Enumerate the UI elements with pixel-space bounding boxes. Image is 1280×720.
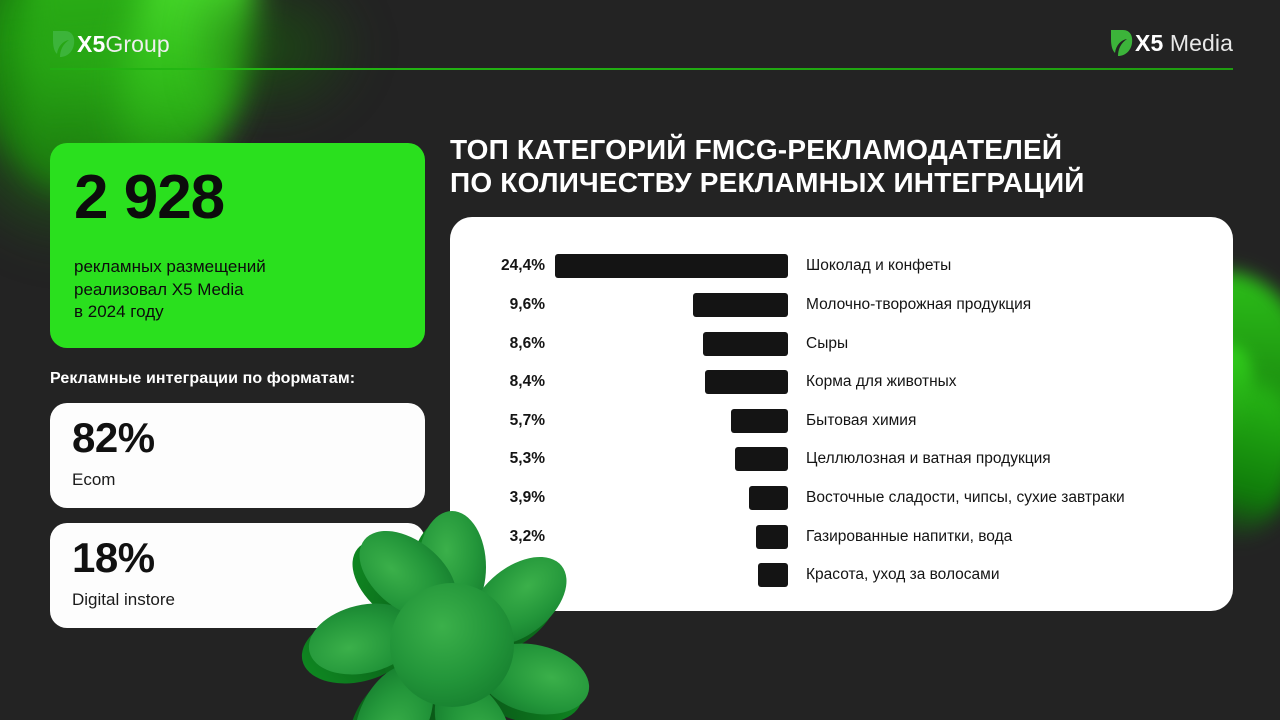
placements-description: рекламных размещений реализовал X5 Media… [74,256,401,324]
bar-track [555,409,788,433]
formats-section-label: Рекламные интеграции по форматам: [50,370,425,388]
bar-chart-row: 24,4%Шоколад и конфеты [450,247,1233,286]
format-percent: 18% [72,537,403,579]
placements-description-line2: реализовал X5 Media [74,279,401,302]
bar-category-label: Молочно-творожная продукция [788,296,1031,314]
bar-category-label: Целлюлозная и ватная продукция [788,450,1051,468]
chart-card: 24,4%Шоколад и конфеты9,6%Молочно-творож… [450,217,1233,611]
bar-chart-row: 9,6%Молочно-творожная продукция [450,286,1233,325]
bar-track [555,525,788,549]
bar-chart-row: 2,6%Красота, уход за волосами [450,556,1233,595]
leaf-icon [1108,27,1134,59]
bar-track [555,486,788,510]
bar [555,254,788,278]
bar-category-label: Восточные сладости, чипсы, сухие завтрак… [788,489,1125,507]
bar-category-label: Газированные напитки, вода [788,528,1012,546]
bar-category-label: Корма для животных [788,373,957,391]
format-percent: 82% [72,417,403,459]
bar-value-label: 8,4% [450,373,555,391]
header-divider [50,68,1233,70]
bar-chart-row: 3,2%Газированные напитки, вода [450,517,1233,556]
x5group-logo: X5Group [50,28,170,60]
format-card-ecom: 82% Ecom [50,403,425,508]
bar [731,409,788,433]
bar [735,447,788,471]
logo-bold-text: X5 [77,31,105,57]
bar-category-label: Красота, уход за волосами [788,566,1000,584]
bar [756,525,788,549]
placements-highlight-card: 2 928 рекламных размещений реализовал X5… [50,143,425,348]
bar-chart-row: 8,6%Сыры [450,324,1233,363]
bar-chart-row: 5,7%Бытовая химия [450,401,1233,440]
chart-title-line2: ПО КОЛИЧЕСТВУ РЕКЛАМНЫХ ИНТЕГРАЦИЙ [450,166,1235,199]
bar-category-label: Сыры [788,335,848,353]
bar-category-label: Бытовая химия [788,412,916,430]
bar-value-label: 24,4% [450,257,555,275]
bar-track [555,370,788,394]
bar-track [555,293,788,317]
placements-description-line1: рекламных размещений [74,256,401,279]
format-caption: Digital instore [72,590,403,610]
chart-title-line1: ТОП КАТЕГОРИЙ FMCG-РЕКЛАМОДАТЕЛЕЙ [450,133,1235,166]
bar-value-label: 5,7% [450,412,555,430]
placements-count: 2 928 [74,169,401,228]
bar [693,293,788,317]
format-card-digital-instore: 18% Digital instore [50,523,425,628]
bar-value-label: 5,3% [450,450,555,468]
bar [703,332,788,356]
bar-value-label: 3,2% [450,528,555,546]
bar [749,486,788,510]
logo-light-text: Group [105,31,169,57]
right-column: ТОП КАТЕГОРИЙ FMCG-РЕКЛАМОДАТЕЛЕЙ ПО КОЛ… [450,133,1235,611]
bar-chart-row: 8,4%Корма для животных [450,363,1233,402]
bar-chart-rows: 24,4%Шоколад и конфеты9,6%Молочно-творож… [450,247,1233,594]
bar-value-label: 3,9% [450,489,555,507]
bar-chart-row: 5,3%Целлюлозная и ватная продукция [450,440,1233,479]
bar-value-label: 8,6% [450,335,555,353]
logo-bold-text: X5 [1135,30,1163,56]
placements-description-line3: в 2024 году [74,301,401,324]
bar-track [555,254,788,278]
bar-value-label: 2,6% [450,566,555,584]
bar-category-label: Шоколад и конфеты [788,257,951,275]
format-caption: Ecom [72,470,403,490]
bar-track [555,563,788,587]
bar-chart-row: 3,9%Восточные сладости, чипсы, сухие зав… [450,479,1233,518]
chart-title: ТОП КАТЕГОРИЙ FMCG-РЕКЛАМОДАТЕЛЕЙ ПО КОЛ… [450,133,1235,199]
x5media-logo: X5 Media [1108,27,1233,59]
bar [705,370,788,394]
left-column: 2 928 рекламных размещений реализовал X5… [50,143,425,628]
bar-track [555,332,788,356]
leaf-icon [50,28,76,60]
bar-track [555,447,788,471]
logo-light-text: Media [1163,30,1233,56]
bar-value-label: 9,6% [450,296,555,314]
bar [758,563,788,587]
page-header: X5Group X5 Media [0,0,1280,90]
